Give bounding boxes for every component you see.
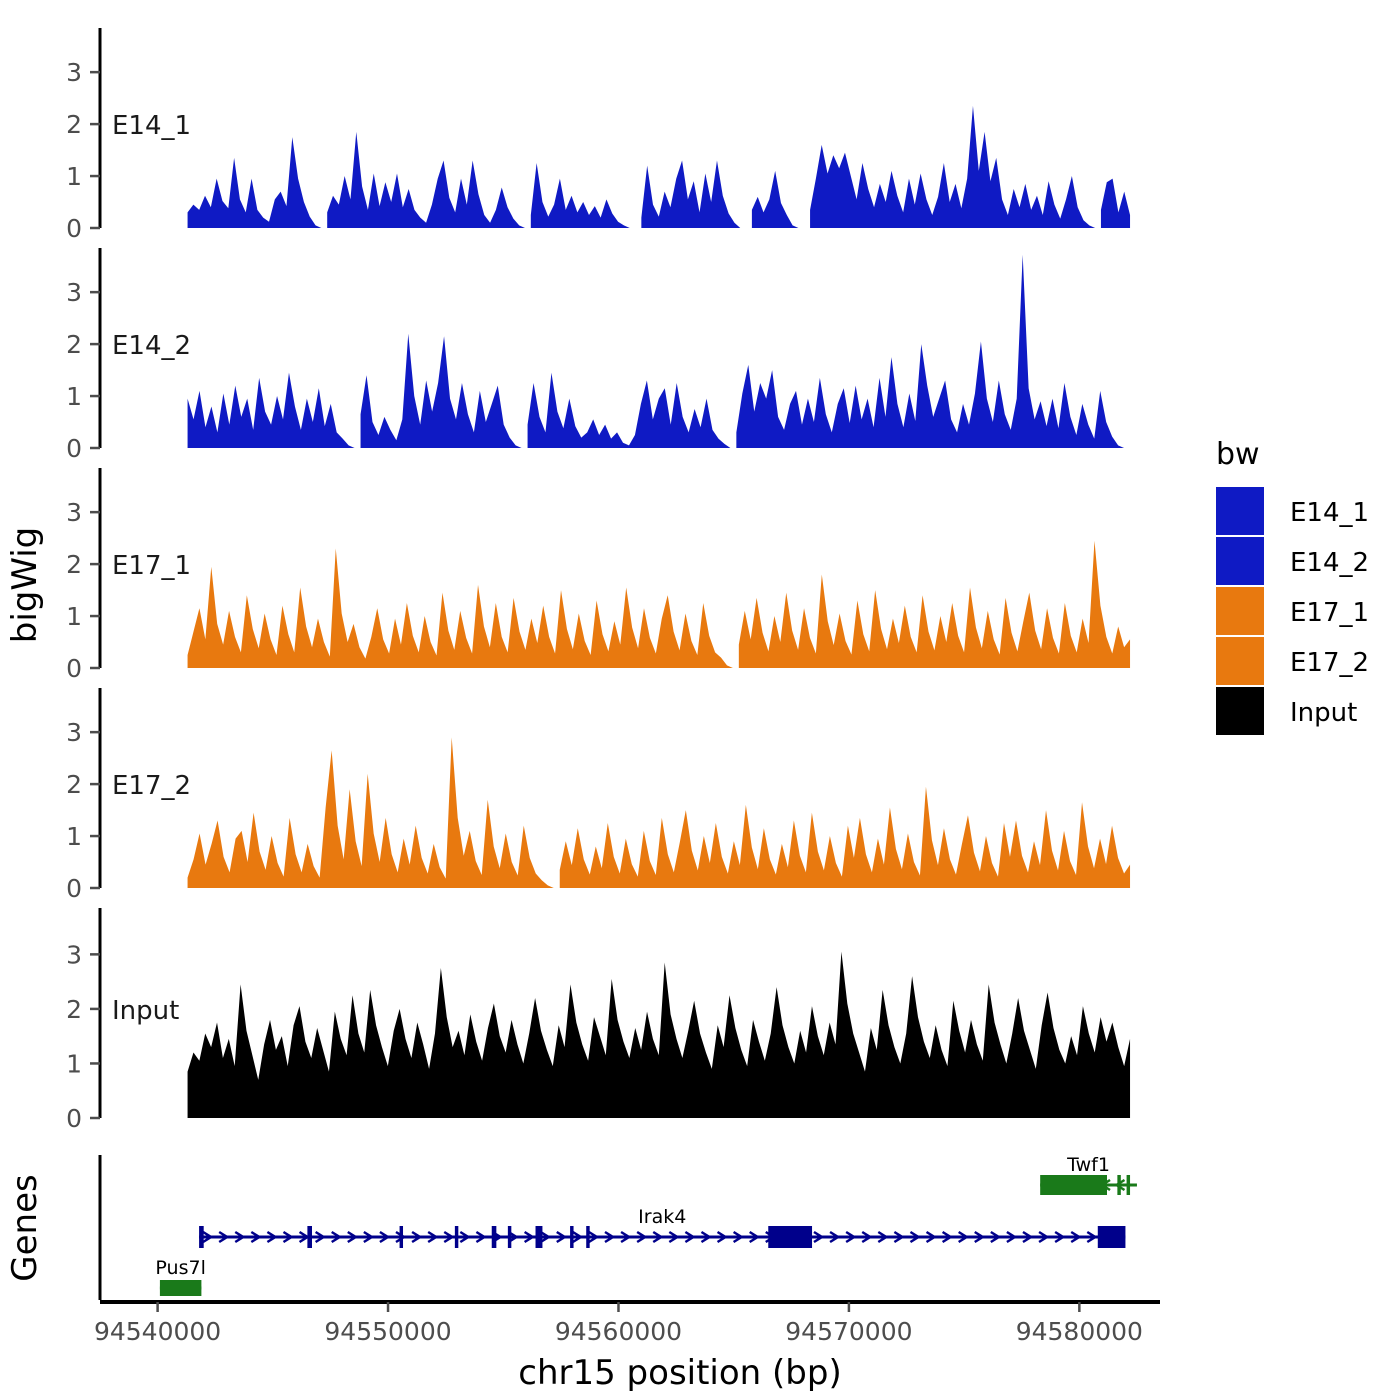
axis-label-genes: Genes — [5, 1174, 45, 1281]
y-tick-label-E14_2-3: 3 — [66, 278, 82, 307]
gene-exon-Irak4 — [455, 1226, 458, 1248]
gene-exon-Irak4 — [1098, 1226, 1126, 1248]
gene-exon-Irak4 — [400, 1226, 403, 1248]
legend-label-Input: Input — [1290, 698, 1357, 728]
y-tick-label-E17_2-1: 1 — [66, 822, 82, 851]
gene-exon-Irak4 — [768, 1226, 812, 1248]
track-Input: 0123Input — [66, 908, 1130, 1133]
x-tick-label-94540000: 94540000 — [94, 1317, 221, 1346]
y-tick-label-E14_1-1: 1 — [66, 162, 82, 191]
track-label-E17_2: E17_2 — [112, 771, 191, 801]
gene-exon-Pus7l — [160, 1280, 201, 1296]
gene-exon-Irak4 — [199, 1226, 204, 1248]
y-tick-label-Input-2: 2 — [66, 995, 82, 1024]
axis-label-bigwig: bigWig — [5, 527, 45, 644]
gene-exon-Irak4 — [586, 1226, 589, 1248]
legend-label-E14_1: E14_1 — [1290, 498, 1369, 528]
gene-exon-Irak4 — [570, 1226, 573, 1248]
legend-label-E17_1: E17_1 — [1290, 598, 1369, 628]
legend-label-E14_2: E14_2 — [1290, 548, 1369, 578]
track-label-E17_1: E17_1 — [112, 551, 191, 581]
track-label-E14_2: E14_2 — [112, 331, 191, 361]
y-tick-label-E14_2-0: 0 — [66, 434, 82, 463]
y-tick-label-E14_1-2: 2 — [66, 110, 82, 139]
genome-browser-figure: 0123E14_10123E14_20123E17_10123E17_20123… — [0, 0, 1400, 1400]
gene-exon-Twf1 — [1127, 1175, 1130, 1195]
track-E14_2: 0123E14_2 — [66, 248, 1124, 463]
legend-swatch-E17_1[interactable] — [1216, 587, 1264, 635]
gene-exon-Irak4 — [508, 1226, 511, 1248]
gene-exon-Irak4 — [536, 1226, 543, 1248]
gene-label-Twf1: Twf1 — [1066, 1154, 1110, 1176]
legend-swatch-E17_2[interactable] — [1216, 637, 1264, 685]
y-tick-label-E14_1-3: 3 — [66, 58, 82, 87]
axis-label-x: chr15 position (bp) — [518, 1353, 841, 1393]
gene-label-Pus7l: Pus7l — [155, 1257, 205, 1279]
y-tick-label-E17_1-0: 0 — [66, 654, 82, 683]
x-tick-label-94580000: 94580000 — [1016, 1317, 1143, 1346]
y-tick-label-E17_1-3: 3 — [66, 498, 82, 527]
gene-Irak4[interactable]: Irak4 — [199, 1206, 1125, 1248]
gene-Twf1[interactable]: Twf1 — [1040, 1154, 1137, 1195]
gene-exon-Twf1 — [1117, 1175, 1120, 1195]
y-tick-label-Input-0: 0 — [66, 1104, 82, 1133]
x-tick-label-94570000: 94570000 — [785, 1317, 912, 1346]
gene-exon-Twf1 — [1040, 1175, 1107, 1195]
y-tick-label-E17_2-0: 0 — [66, 874, 82, 903]
gene-label-Irak4: Irak4 — [638, 1206, 686, 1228]
legend-title: bw — [1216, 437, 1260, 472]
coverage-area-E14_2 — [188, 255, 1125, 448]
gene-Pus7l[interactable]: Pus7l — [155, 1257, 205, 1296]
y-tick-label-Input-1: 1 — [66, 1049, 82, 1078]
genes-panel: Twf1Irak4Pus7l — [100, 1154, 1137, 1300]
y-tick-label-E17_2-2: 2 — [66, 770, 82, 799]
gene-exon-Irak4 — [492, 1226, 497, 1248]
y-tick-label-E14_2-1: 1 — [66, 382, 82, 411]
x-tick-label-94560000: 94560000 — [555, 1317, 682, 1346]
coverage-area-E17_2 — [188, 737, 1130, 888]
legend-swatch-Input[interactable] — [1216, 687, 1264, 735]
y-tick-label-E14_1-0: 0 — [66, 214, 82, 243]
y-tick-label-Input-3: 3 — [66, 940, 82, 969]
legend-swatch-E14_2[interactable] — [1216, 537, 1264, 585]
track-label-Input: Input — [112, 996, 179, 1026]
y-tick-label-E17_1-2: 2 — [66, 550, 82, 579]
coverage-area-E17_1 — [188, 541, 1130, 668]
x-tick-label-94550000: 94550000 — [324, 1317, 451, 1346]
coverage-area-E14_1 — [188, 106, 1130, 228]
coverage-area-Input — [188, 952, 1130, 1118]
y-tick-label-E17_2-3: 3 — [66, 718, 82, 747]
legend-swatch-E14_1[interactable] — [1216, 487, 1264, 535]
gene-exon-Irak4 — [307, 1226, 312, 1248]
track-label-E14_1: E14_1 — [112, 111, 191, 141]
track-E14_1: 0123E14_1 — [66, 28, 1130, 243]
legend-label-E17_2: E17_2 — [1290, 648, 1369, 678]
track-E17_1: 0123E17_1 — [66, 468, 1130, 683]
y-tick-label-E14_2-2: 2 — [66, 330, 82, 359]
y-tick-label-E17_1-1: 1 — [66, 602, 82, 631]
track-E17_2: 0123E17_2 — [66, 688, 1130, 903]
